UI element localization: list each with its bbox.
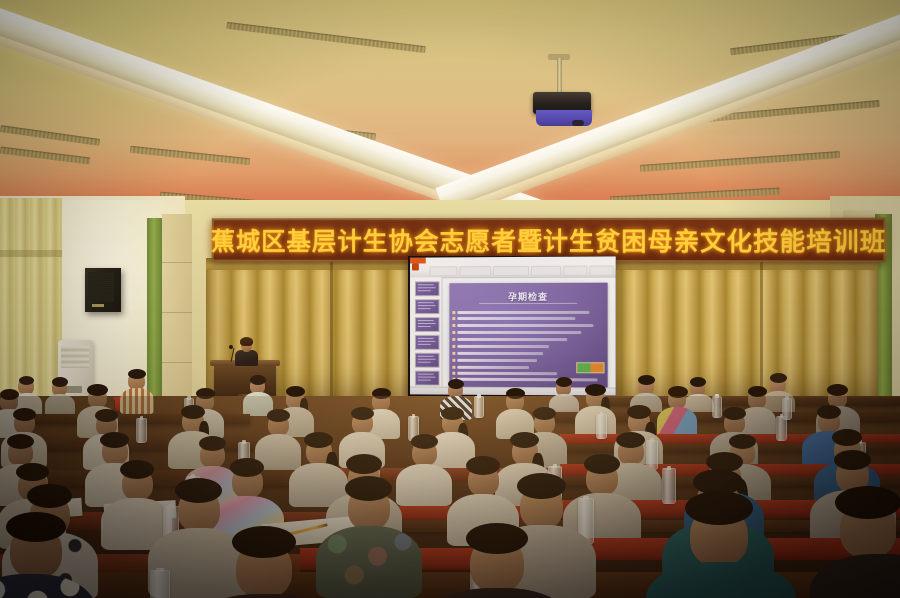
- podium: [214, 362, 276, 396]
- left-wall-panel: [162, 214, 192, 419]
- ribbon-group: [430, 266, 458, 276]
- green-wall-column-left: [147, 218, 162, 418]
- ribbon-group: [589, 265, 613, 275]
- air-conditioner-vents: [61, 346, 89, 368]
- slide-thumbnail[interactable]: [415, 371, 440, 386]
- current-slide: 孕期检查: [449, 283, 607, 388]
- slide-bullet: [457, 331, 581, 334]
- slide-corner-widget: [576, 362, 604, 373]
- slide-bullet: [457, 324, 593, 327]
- photo-scene: 蕉城区基层计生协会志愿者暨计生贫困母亲文化技能培训班 孕期检查: [0, 0, 900, 598]
- slide-thumbnail[interactable]: [415, 317, 440, 332]
- ribbon-group: [493, 266, 529, 276]
- slide-title-rule: [479, 303, 577, 304]
- slide-thumbnail-panel[interactable]: [410, 277, 442, 394]
- slide-thumbnail[interactable]: [415, 281, 440, 296]
- slide-bullet: [457, 372, 557, 375]
- wall-tile-line: [162, 312, 192, 313]
- audience-shadow-overlay: [0, 396, 900, 598]
- slide-thumbnail[interactable]: [415, 299, 440, 314]
- presenter-body: [235, 350, 258, 366]
- slide-thumbnail[interactable]: [415, 353, 440, 368]
- ribbon-group: [459, 266, 491, 276]
- slide-bullet: [457, 317, 575, 320]
- ribbon-group: [531, 266, 561, 276]
- powerpoint-tab-bar: [410, 256, 616, 263]
- projection-screen: 孕期检查: [408, 256, 616, 396]
- left-curtain-band: [0, 250, 62, 257]
- wall-speaker-grille: [88, 272, 114, 302]
- slide-bullet: [457, 366, 529, 369]
- slide-bullet: [457, 352, 543, 355]
- slide-thumbnail[interactable]: [415, 335, 440, 350]
- wall-tile-line: [162, 262, 192, 263]
- slide-bullet: [457, 359, 537, 362]
- microphone-icon: [229, 345, 233, 349]
- slide-title: 孕期检查: [449, 290, 607, 303]
- wall-tile-line: [162, 362, 192, 363]
- banner-title: 蕉城区基层计生协会志愿者暨计生贫困母亲文化技能培训班: [214, 220, 884, 261]
- slide-bullet: [457, 378, 597, 382]
- presenter-hair: [240, 337, 253, 346]
- slide-bullet: [457, 345, 549, 348]
- screen-surface: 孕期检查: [410, 256, 616, 395]
- wall-speaker-badge: [92, 304, 104, 307]
- curtain-seam: [330, 258, 333, 408]
- slide-bullet: [457, 311, 589, 314]
- slide-bullet: [457, 338, 567, 341]
- powerpoint-logo-icon: [412, 263, 419, 270]
- ribbon-group: [563, 266, 587, 276]
- projector-lens-icon: [572, 120, 584, 126]
- air-conditioner-panel: [66, 386, 82, 393]
